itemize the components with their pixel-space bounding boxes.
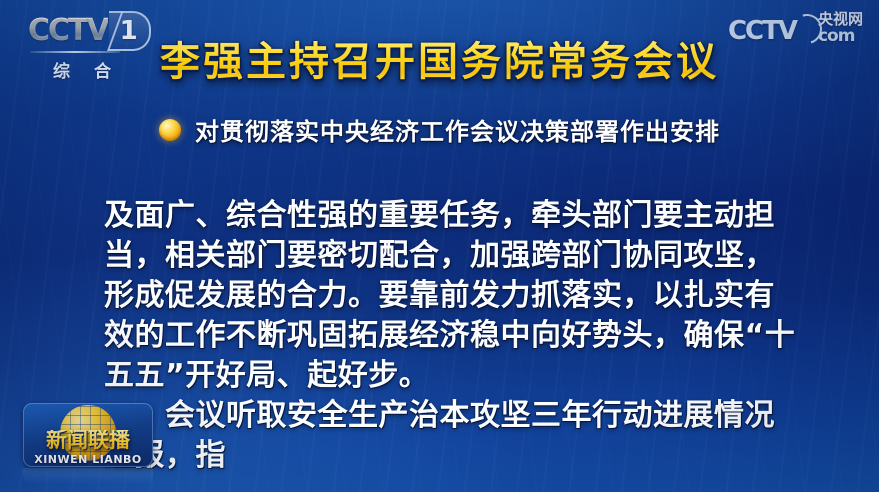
subtitle-text: 对贯彻落实中央经济工作会议决策部署作出安排 [195, 112, 720, 147]
subtitle-row: 对贯彻落实中央经济工作会议决策部署作出安排 [0, 112, 879, 147]
xinwen-lianbo-cn-title: 新闻联播 [23, 430, 153, 451]
xinwen-lianbo-en-title: XINWEN LIANBO [23, 454, 153, 465]
gold-sphere-bullet-icon [159, 119, 181, 141]
xinwen-lianbo-program-logo: 新闻联播 XINWEN LIANBO [23, 403, 153, 467]
broadcast-screen: CCTV 1 综 合 CCTV 央视网 com 李强主持召开国务院常务会议 对贯… [0, 0, 879, 492]
cctvcom-wordmark-group: CCTV [728, 14, 822, 44]
headline-title: 李强主持召开国务院常务会议 [0, 40, 879, 85]
cctvcom-cn-label: 央视网 [818, 12, 863, 27]
body-paragraph: 及面广、综合性强的重要任务，牵头部门要主动担当，相关部门要密切配合，加强跨部门协… [104, 196, 804, 476]
